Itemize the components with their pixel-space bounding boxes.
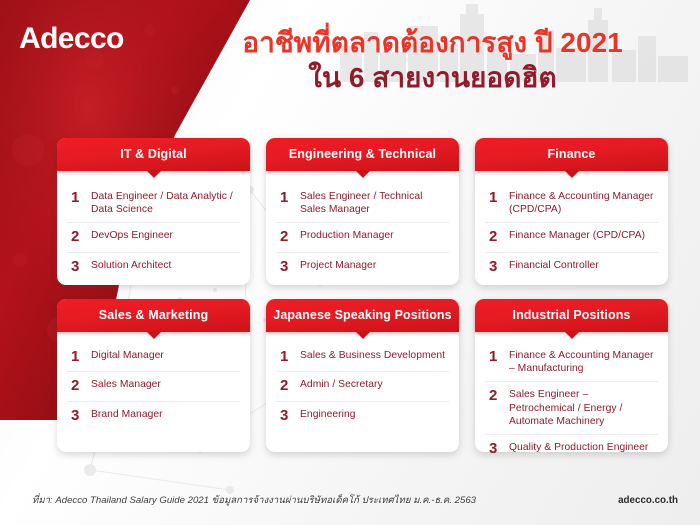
item-rank: 2 [71, 228, 82, 245]
item-label: DevOps Engineer [91, 228, 173, 242]
footer: ที่มา: Adecco Thailand Salary Guide 2021… [0, 491, 700, 509]
list-item: 1 Digital Manager [67, 343, 240, 372]
item-rank: 2 [71, 377, 82, 394]
item-rank: 3 [71, 407, 82, 424]
card-body: 1 Sales & Business Development 2 Admin /… [266, 332, 459, 438]
card-title: Sales & Marketing [93, 309, 214, 323]
list-item: 3 Financial Controller [485, 253, 658, 281]
item-label: Admin / Secretary [300, 377, 383, 391]
list-item: 1 Data Engineer / Data Analytic / Data S… [67, 184, 240, 223]
item-label: Project Manager [300, 258, 376, 272]
category-card-japanese-speaking: Japanese Speaking Positions 1 Sales & Bu… [266, 299, 459, 452]
list-item: 1 Sales & Business Development [276, 343, 449, 372]
card-title: Industrial Positions [507, 309, 637, 323]
item-label: Quality & Production Engineer [509, 440, 648, 454]
triangle-notch-icon [146, 331, 162, 339]
item-label: Finance & Accounting Manager (CPD/CPA) [509, 189, 656, 216]
category-card-grid: IT & Digital 1 Data Engineer / Data Anal… [57, 138, 668, 452]
card-title: Japanese Speaking Positions [267, 309, 457, 323]
item-rank: 1 [71, 348, 82, 365]
list-item: 2 Admin / Secretary [276, 372, 449, 401]
list-item: 2 DevOps Engineer [67, 223, 240, 252]
list-item: 3 Solution Architect [67, 253, 240, 281]
adecco-logo-text: Adecco [19, 24, 124, 54]
category-card-engineering-technical: Engineering & Technical 1 Sales Engineer… [266, 138, 459, 285]
list-item: 3 Brand Manager [67, 402, 240, 430]
card-header: Engineering & Technical [266, 138, 459, 171]
item-label: Solution Architect [91, 258, 171, 272]
item-label: Engineering [300, 407, 356, 421]
item-label: Data Engineer / Data Analytic / Data Sci… [91, 189, 238, 216]
item-label: Sales Engineer / Technical Sales Manager [300, 189, 447, 216]
category-card-it-digital: IT & Digital 1 Data Engineer / Data Anal… [57, 138, 250, 285]
item-rank: 1 [71, 189, 82, 206]
list-item: 2 Finance Manager (CPD/CPA) [485, 223, 658, 252]
item-label: Sales Manager [91, 377, 161, 391]
triangle-notch-icon [355, 170, 371, 178]
item-rank: 2 [280, 228, 291, 245]
card-title: Finance [542, 148, 602, 162]
item-rank: 3 [489, 440, 500, 457]
item-rank: 3 [280, 407, 291, 424]
item-label: Sales & Business Development [300, 348, 445, 362]
card-body: 1 Finance & Accounting Manager (CPD/CPA)… [475, 171, 668, 289]
card-body: 1 Finance & Accounting Manager – Manufac… [475, 332, 668, 471]
item-rank: 1 [280, 348, 291, 365]
footer-source-text: ที่มา: Adecco Thailand Salary Guide 2021… [32, 493, 476, 508]
card-title: Engineering & Technical [283, 148, 442, 162]
item-rank: 2 [280, 377, 291, 394]
item-rank: 3 [71, 258, 82, 275]
card-body: 1 Digital Manager 2 Sales Manager 3 Bran… [57, 332, 250, 438]
triangle-notch-icon [564, 170, 580, 178]
item-label: Finance & Accounting Manager – Manufactu… [509, 348, 656, 375]
item-rank: 3 [489, 258, 500, 275]
item-label: Brand Manager [91, 407, 163, 421]
item-label: Production Manager [300, 228, 394, 242]
list-item: 1 Finance & Accounting Manager (CPD/CPA) [485, 184, 658, 223]
item-rank: 2 [489, 387, 500, 404]
category-card-finance: Finance 1 Finance & Accounting Manager (… [475, 138, 668, 285]
card-header: Finance [475, 138, 668, 171]
list-item: 3 Project Manager [276, 253, 449, 281]
infographic-canvas: Adecco อาชีพที่ตลาดต้องการสูง ปี 2021 ใน… [0, 0, 700, 525]
card-body: 1 Data Engineer / Data Analytic / Data S… [57, 171, 250, 289]
item-label: Financial Controller [509, 258, 599, 272]
item-label: Finance Manager (CPD/CPA) [509, 228, 645, 242]
list-item: 1 Finance & Accounting Manager – Manufac… [485, 343, 658, 382]
list-item: 1 Sales Engineer / Technical Sales Manag… [276, 184, 449, 223]
triangle-notch-icon [564, 331, 580, 339]
item-label: Digital Manager [91, 348, 164, 362]
list-item: 2 Sales Manager [67, 372, 240, 401]
card-title: IT & Digital [114, 148, 192, 162]
item-rank: 1 [280, 189, 291, 206]
list-item: 2 Production Manager [276, 223, 449, 252]
item-rank: 3 [280, 258, 291, 275]
list-item: 3 Engineering [276, 402, 449, 430]
item-rank: 1 [489, 348, 500, 365]
card-header: Sales & Marketing [57, 299, 250, 332]
card-header: Japanese Speaking Positions [266, 299, 459, 332]
card-header: Industrial Positions [475, 299, 668, 332]
item-rank: 1 [489, 189, 500, 206]
triangle-notch-icon [146, 170, 162, 178]
footer-website-link[interactable]: adecco.co.th [618, 495, 678, 506]
card-header: IT & Digital [57, 138, 250, 171]
item-rank: 2 [489, 228, 500, 245]
category-card-industrial-positions: Industrial Positions 1 Finance & Account… [475, 299, 668, 452]
list-item: 2 Sales Engineer – Petrochemical / Energ… [485, 382, 658, 435]
list-item: 3 Quality & Production Engineer [485, 435, 658, 463]
card-body: 1 Sales Engineer / Technical Sales Manag… [266, 171, 459, 289]
title-line-2: ใน 6 สายงานยอดฮิต [175, 60, 690, 95]
item-label: Sales Engineer – Petrochemical / Energy … [509, 387, 656, 428]
adecco-logo: Adecco [18, 24, 124, 54]
triangle-notch-icon [355, 331, 371, 339]
title-line-1: อาชีพที่ตลาดต้องการสูง ปี 2021 [175, 26, 690, 60]
page-title: อาชีพที่ตลาดต้องการสูง ปี 2021 ใน 6 สายง… [175, 26, 690, 95]
category-card-sales-marketing: Sales & Marketing 1 Digital Manager 2 Sa… [57, 299, 250, 452]
